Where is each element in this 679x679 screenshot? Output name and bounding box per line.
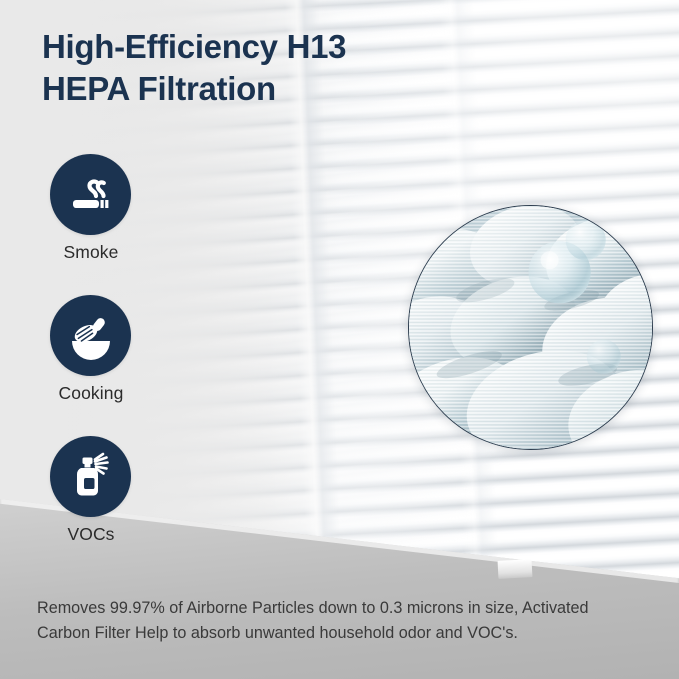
fiber-macro-image <box>408 205 653 450</box>
feature-badge-label-vocs: VOCs <box>0 524 182 545</box>
feature-badge-label-cooking: Cooking <box>0 383 182 404</box>
page-title: High-Efficiency H13 HEPA Filtration <box>42 26 346 110</box>
feature-badge-list: Smoke Cooking <box>0 154 182 577</box>
product-feature-graphic: High-Efficiency H13 HEPA Filtration Smok… <box>0 0 679 679</box>
cigarette-smoke-icon <box>50 154 131 235</box>
feature-badge-smoke[interactable]: Smoke <box>0 154 182 295</box>
whisk-bowl-icon <box>50 295 131 376</box>
hepa-fiber-macro-circle <box>408 205 653 450</box>
spray-bottle-icon <box>50 436 131 517</box>
feature-badge-vocs[interactable]: VOCs <box>0 436 182 577</box>
feature-badge-cooking[interactable]: Cooking <box>0 295 182 436</box>
product-description-caption: Removes 99.97% of Airborne Particles dow… <box>37 596 637 645</box>
filter-edge-notch <box>498 559 533 579</box>
feature-badge-label-smoke: Smoke <box>0 242 182 263</box>
